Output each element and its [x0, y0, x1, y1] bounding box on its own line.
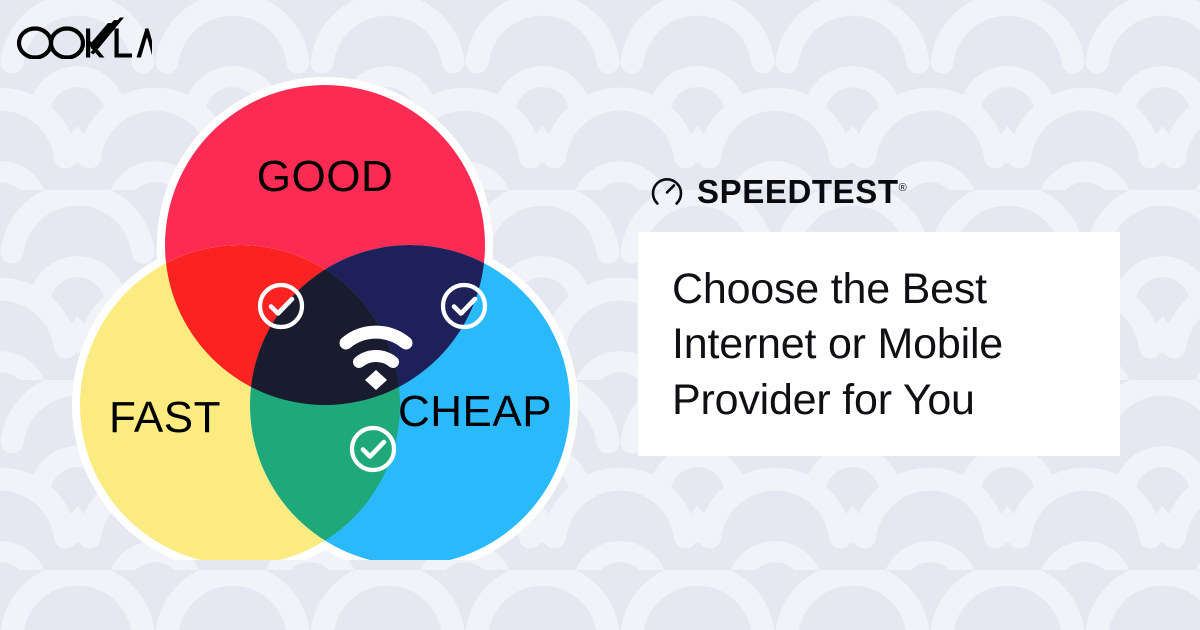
ookla-registered-mark: [145, 28, 148, 31]
venn-label-cheap: CHEAP: [398, 387, 552, 436]
ookla-letter-k-stem: [86, 29, 90, 58]
ookla-logo: [16, 17, 152, 64]
headline-card: Choose the Best Internet or Mobile Provi…: [638, 232, 1120, 456]
speedometer-icon: [650, 174, 684, 208]
ookla-letter-a: [137, 29, 153, 58]
ookla-letter-l: [115, 29, 133, 58]
venn-label-good: GOOD: [257, 152, 393, 201]
speedtest-wordmark: SPEEDTEST®: [697, 175, 907, 208]
right-panel: SPEEDTEST® Choose the Best Internet or M…: [638, 168, 1120, 456]
ookla-letter-k-stripes: [89, 18, 124, 58]
speedtest-wordmark-text: SPEEDTEST: [697, 173, 899, 210]
ookla-letter-o2: [51, 29, 83, 58]
venn-diagram: GOOD FAST CHEAP: [50, 60, 610, 565]
venn-label-fast: FAST: [109, 393, 221, 442]
page-title: Choose the Best Internet or Mobile Provi…: [672, 262, 1086, 428]
ookla-letter-o1: [19, 29, 51, 58]
speedtest-brand: SPEEDTEST®: [638, 168, 1120, 214]
speedtest-registered-mark: ®: [899, 182, 907, 194]
